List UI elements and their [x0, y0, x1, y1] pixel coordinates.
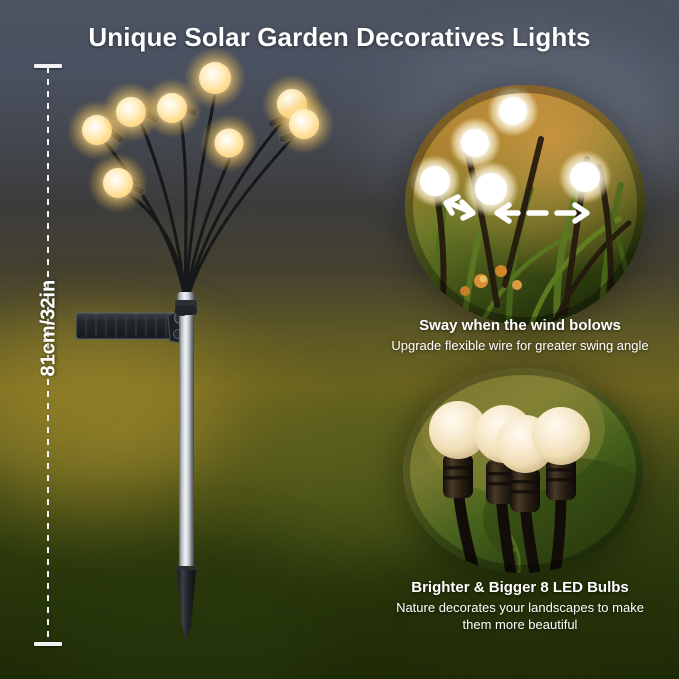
caption-sway-subtext: Upgrade flexible wire for greater swing … [370, 337, 670, 354]
solar-panel-assembly [76, 306, 197, 344]
led-bulb [200, 114, 258, 172]
caption-bulbs: Brighter & Bigger 8 LED Bulbs Nature dec… [370, 578, 670, 633]
led-bulb [274, 94, 334, 154]
product-illustration [0, 0, 380, 679]
inset-bulb [558, 150, 612, 204]
caption-sway-headline: Sway when the wind bolows [370, 316, 670, 335]
caption-bulbs-subtext-line2: them more beautiful [370, 616, 670, 633]
caption-bulbs-headline: Brighter & Bigger 8 LED Bulbs [370, 578, 670, 597]
led-bulbs [67, 47, 334, 213]
product-pole [179, 316, 194, 572]
led-bulb [184, 47, 246, 109]
caption-sway: Sway when the wind bolows Upgrade flexib… [370, 316, 670, 354]
caption-bulbs-subtext-line1: Nature decorates your landscapes to make [370, 599, 670, 616]
inset-sway-photo [405, 85, 645, 325]
globe-bulb [532, 407, 590, 465]
ground-stake [177, 570, 196, 641]
led-bulb [88, 153, 148, 213]
product-marketing-image: Unique Solar Garden Decoratives Lights 8… [0, 0, 679, 679]
inset-bulbs-photo [403, 368, 643, 573]
